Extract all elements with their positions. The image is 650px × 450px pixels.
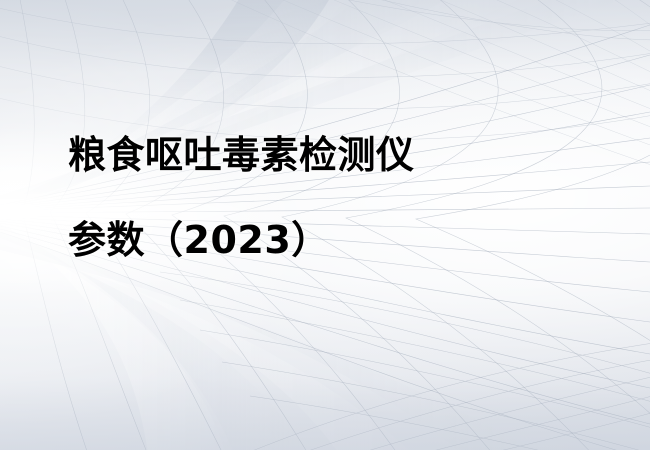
- mesh-lines-net-bottom: [160, 272, 650, 450]
- title-block: 粮食呕吐毒素检测仪 参数（2023）: [68, 113, 588, 283]
- title-line-2: 参数（2023）: [68, 198, 588, 283]
- banner-image: 粮食呕吐毒素检测仪 参数（2023）: [0, 0, 650, 450]
- title-line-1: 粮食呕吐毒素检测仪: [68, 113, 588, 198]
